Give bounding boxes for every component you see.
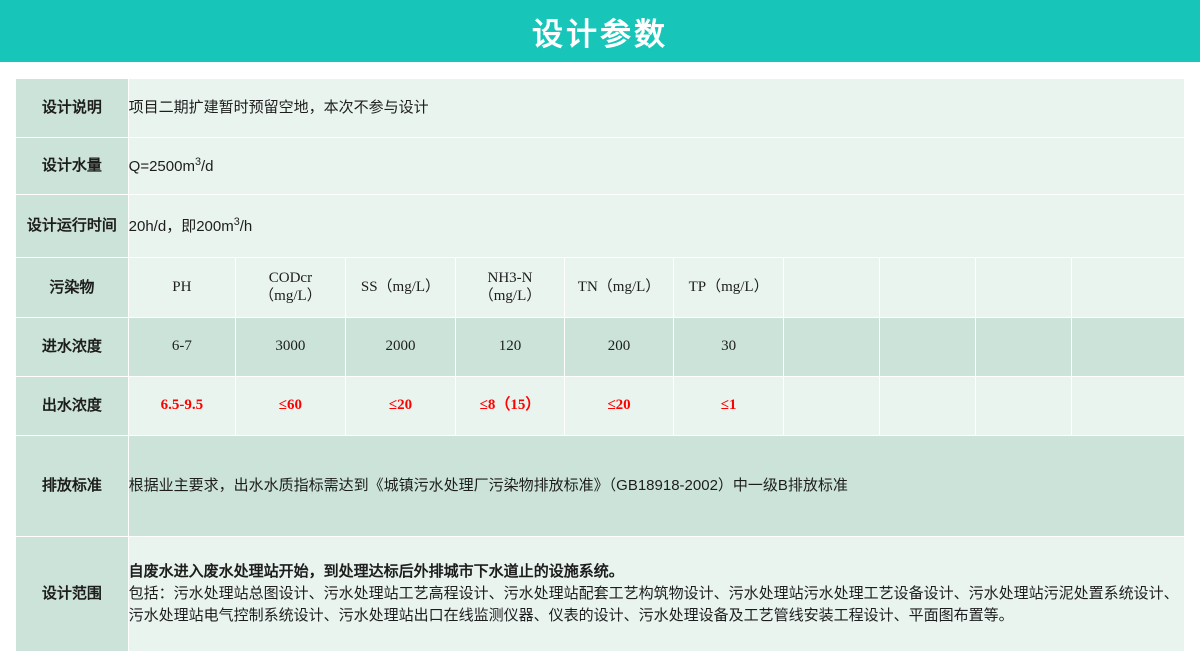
design-runtime-suffix: /h — [240, 218, 253, 235]
column-header-empty-3 — [976, 258, 1071, 317]
effluent-empty-3 — [976, 377, 1071, 435]
page-root: 设计参数 设计说明 项目二期扩建暂时预留空地，本次不参与设计 — [0, 0, 1200, 653]
row-label-design-note: 设计说明 — [16, 79, 128, 137]
effluent-empty-2 — [880, 377, 975, 435]
table-row: 设计水量 Q=2500m3/d — [16, 138, 1184, 194]
design-scope-line-2: 包括：污水处理站总图设计、污水处理站工艺高程设计、污水处理站配套工艺构筑物设计、… — [129, 583, 1184, 627]
effluent-tn: ≤20 — [565, 377, 674, 435]
effluent-codcr: ≤60 — [236, 377, 345, 435]
design-runtime-prefix: 20h/d，即200m — [129, 218, 234, 235]
table-row: 污染物 PH CODcr （mg/L） SS（mg/L） NH3-N （mg/L… — [16, 258, 1184, 317]
influent-empty-4 — [1072, 318, 1184, 376]
influent-empty-3 — [976, 318, 1071, 376]
row-label-design-scope: 设计范围 — [16, 537, 128, 651]
column-header-nh3n: NH3-N （mg/L） — [456, 258, 564, 317]
row-label-discharge-standard: 排放标准 — [16, 436, 128, 536]
effluent-nh3n: ≤8（15） — [456, 377, 564, 435]
effluent-ph: 6.5-9.5 — [129, 377, 235, 435]
influent-ph: 6-7 — [129, 318, 235, 376]
effluent-ss: ≤20 — [346, 377, 456, 435]
table-row: 出水浓度 6.5-9.5 ≤60 ≤20 ≤8（15） ≤20 ≤1 — [16, 377, 1184, 435]
column-header-tp: TP（mg/L） — [674, 258, 783, 317]
table-row: 进水浓度 6-7 3000 2000 120 200 30 — [16, 318, 1184, 376]
row-label-effluent: 出水浓度 — [16, 377, 128, 435]
page-banner: 设计参数 — [0, 0, 1200, 62]
column-header-empty-1 — [784, 258, 879, 317]
design-parameters-table-wrap: 设计说明 项目二期扩建暂时预留空地，本次不参与设计 设计水量 Q=2500m3/… — [15, 78, 1185, 652]
design-flow-prefix: Q=2500m — [129, 158, 195, 175]
scope-line1-emphasis: 外排城市下水道止 — [414, 563, 534, 580]
page-title: 设计参数 — [532, 9, 668, 54]
table-row: 设计运行时间 20h/d，即200m3/h — [16, 195, 1184, 257]
table-row: 设计范围 自废水进入废水处理站开始，到处理达标后外排城市下水道止的设施系统。 包… — [16, 537, 1184, 651]
column-header-empty-2 — [880, 258, 975, 317]
scope-line1-part-b: 的设施系统。 — [534, 563, 624, 580]
design-flow-suffix: /d — [201, 158, 214, 175]
row-value-design-flow: Q=2500m3/d — [129, 138, 1184, 194]
influent-ss: 2000 — [346, 318, 456, 376]
table-row: 排放标准 根据业主要求，出水水质指标需达到《城镇污水处理厂污染物排放标准》（GB… — [16, 436, 1184, 536]
row-value-discharge-standard: 根据业主要求，出水水质指标需达到《城镇污水处理厂污染物排放标准》（GB18918… — [129, 436, 1184, 536]
design-parameters-table: 设计说明 项目二期扩建暂时预留空地，本次不参与设计 设计水量 Q=2500m3/… — [15, 78, 1185, 652]
row-value-design-scope: 自废水进入废水处理站开始，到处理达标后外排城市下水道止的设施系统。 包括：污水处… — [129, 537, 1184, 651]
influent-tp: 30 — [674, 318, 783, 376]
influent-nh3n: 120 — [456, 318, 564, 376]
column-header-ss: SS（mg/L） — [346, 258, 456, 317]
table-row: 设计说明 项目二期扩建暂时预留空地，本次不参与设计 — [16, 79, 1184, 137]
influent-empty-2 — [880, 318, 975, 376]
effluent-empty-1 — [784, 377, 879, 435]
design-scope-line-1: 自废水进入废水处理站开始，到处理达标后外排城市下水道止的设施系统。 — [129, 561, 1184, 583]
effluent-tp: ≤1 — [674, 377, 783, 435]
column-header-codcr: CODcr （mg/L） — [236, 258, 345, 317]
row-label-design-flow: 设计水量 — [16, 138, 128, 194]
effluent-empty-4 — [1072, 377, 1184, 435]
row-label-influent: 进水浓度 — [16, 318, 128, 376]
row-value-design-note: 项目二期扩建暂时预留空地，本次不参与设计 — [129, 79, 1184, 137]
row-value-design-runtime: 20h/d，即200m3/h — [129, 195, 1184, 257]
influent-empty-1 — [784, 318, 879, 376]
influent-tn: 200 — [565, 318, 674, 376]
column-header-tn: TN（mg/L） — [565, 258, 674, 317]
scope-line1-part-a: 自废水进入废水处理站开始，到处理达标后 — [129, 563, 414, 580]
column-header-empty-4 — [1072, 258, 1184, 317]
row-label-design-runtime: 设计运行时间 — [16, 195, 128, 257]
column-header-ph: PH — [129, 258, 235, 317]
influent-codcr: 3000 — [236, 318, 345, 376]
row-label-pollutant: 污染物 — [16, 258, 128, 317]
